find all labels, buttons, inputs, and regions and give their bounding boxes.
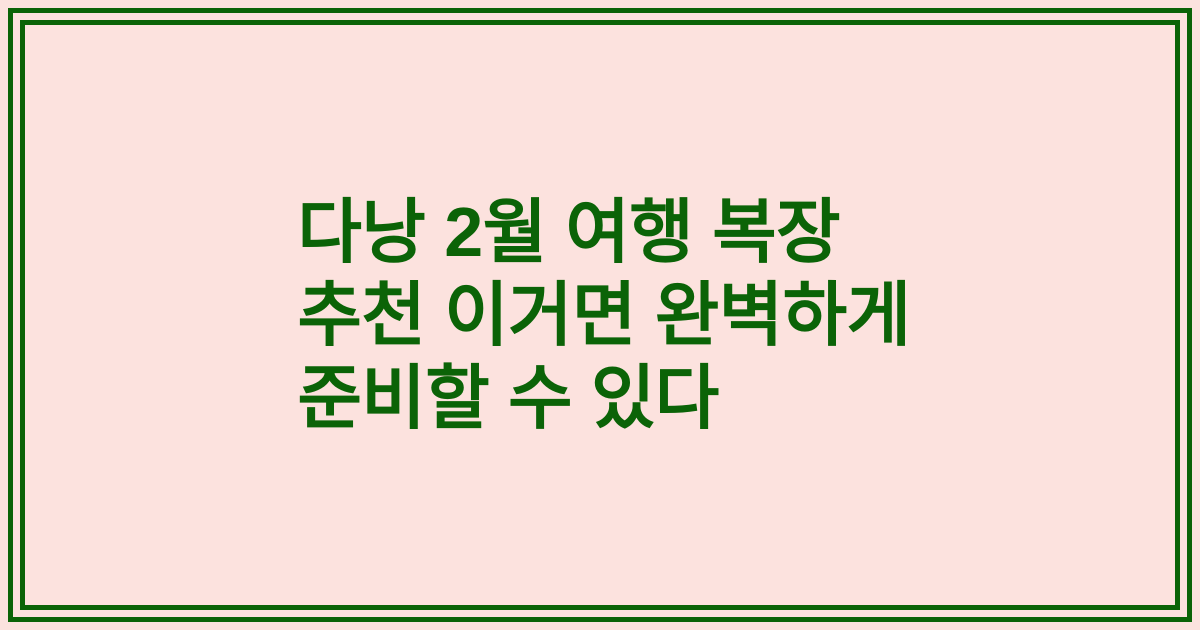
title-line-2: 추천 이거면 완벽하게 [298, 274, 911, 357]
page-title: 다낭 2월 여행 복장 추천 이거면 완벽하게 준비할 수 있다 [298, 191, 911, 440]
title-line-1: 다낭 2월 여행 복장 [298, 191, 911, 274]
thumbnail-canvas: 다낭 2월 여행 복장 추천 이거면 완벽하게 준비할 수 있다 [0, 0, 1200, 630]
title-line-3: 준비할 수 있다 [298, 357, 911, 440]
content-area: 다낭 2월 여행 복장 추천 이거면 완벽하게 준비할 수 있다 [25, 25, 1175, 605]
